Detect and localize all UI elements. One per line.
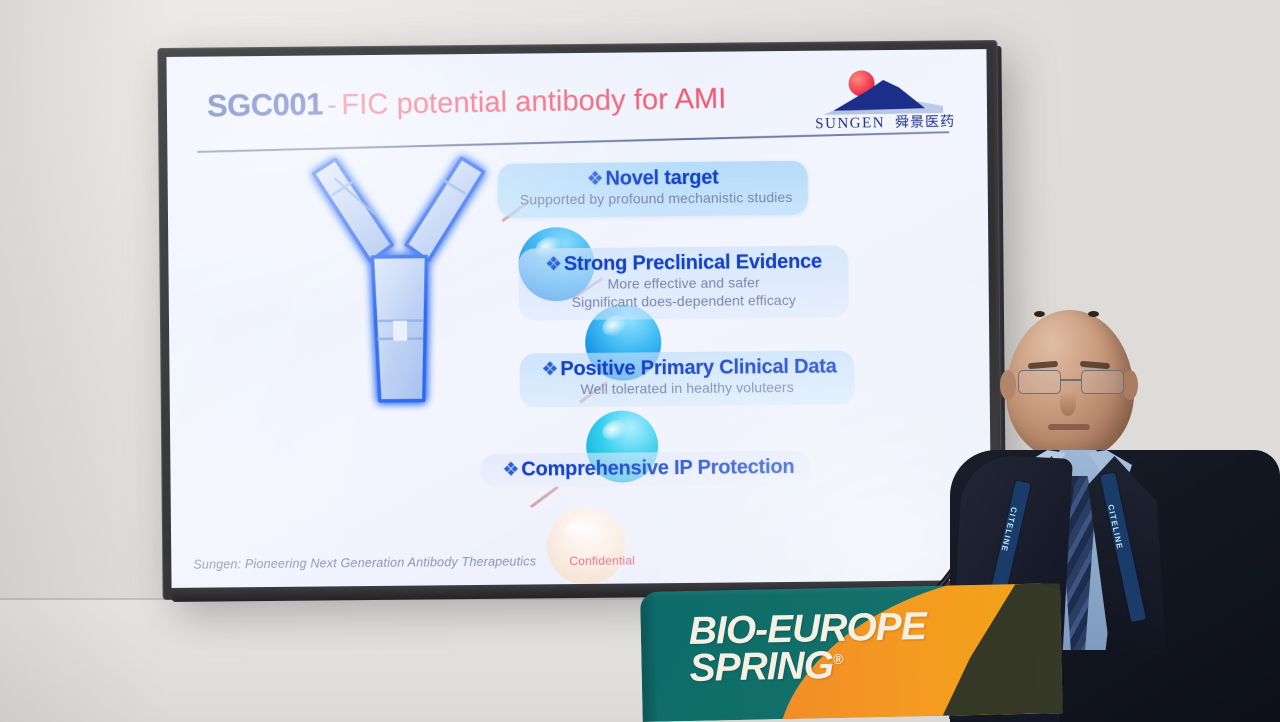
lens-right <box>1081 370 1124 394</box>
logo-name-en: SUNGEN <box>815 115 885 133</box>
bullet-heading: ❖Strong Preclinical Evidence <box>540 251 826 277</box>
registered-mark: ® <box>833 651 844 667</box>
slide-canvas: SGC001 - FIC potential antibody for AMI … <box>166 49 991 588</box>
ear-left <box>1000 370 1016 400</box>
slide-title-rest: FIC potential antibody for AMI <box>341 83 727 121</box>
eye-right <box>1088 311 1099 317</box>
slide-title: SGC001 - FIC potential antibody for AMI <box>207 80 727 125</box>
bullet-card-ip-protection: ❖Comprehensive IP Protection <box>480 451 810 488</box>
bullet-subline: Supported by profound mechanistic studie… <box>520 189 786 209</box>
bullet-subline: Significant does-dependent efficacy <box>541 292 827 313</box>
bullet-glyph-icon: ❖ <box>545 254 562 275</box>
eye-left <box>1034 311 1045 317</box>
podium-sign: BIO-EUROPE SPRING® <box>640 583 1063 722</box>
bullet-heading-text: Comprehensive IP Protection <box>521 456 794 481</box>
bullet-heading: ❖Positive Primary Clinical Data <box>541 356 832 382</box>
bullet-heading-text: Novel target <box>605 167 718 190</box>
sungen-logo: SUNGEN 舜景医药 <box>814 65 955 141</box>
blue-mountain-icon <box>833 77 926 111</box>
bullet-glyph-icon: ❖ <box>587 169 604 190</box>
antibody-svg <box>295 124 528 416</box>
footer-confidential-label: Confidential <box>569 553 635 568</box>
bullet-card-novel-target: ❖Novel target Supported by profound mech… <box>497 161 808 218</box>
lens-left <box>1018 370 1061 394</box>
mouth <box>1048 424 1090 430</box>
wall-shadow <box>0 0 170 722</box>
logo-wordmark: SUNGEN 舜景医药 <box>815 111 955 133</box>
presentation-display: SGC001 - FIC potential antibody for AMI … <box>157 40 1002 600</box>
podium-line-2: SPRING® <box>689 645 927 687</box>
podium-wordmark: BIO-EUROPE SPRING® <box>688 608 927 687</box>
podium-line-2-text: SPRING <box>689 644 833 690</box>
slide-title-code: SGC001 <box>207 86 323 123</box>
bullet-glyph-icon: ❖ <box>541 359 558 380</box>
slide-footer: Sungen: Pioneering Next Generation Antib… <box>171 548 991 582</box>
bullet-heading: ❖Novel target <box>520 166 786 192</box>
logo-name-cn: 舜景医药 <box>895 111 955 132</box>
sphere-link <box>530 486 559 509</box>
podium-left-edge <box>640 592 659 722</box>
slide-title-dash: - <box>327 89 337 121</box>
footer-tagline: Sungen: Pioneering Next Generation Antib… <box>193 554 536 571</box>
ear-right <box>1122 370 1138 400</box>
conference-room-scene: SGC001 - FIC potential antibody for AMI … <box>0 0 1280 722</box>
bullet-subline: Well tolerated in healthy voluteers <box>542 379 833 400</box>
bullet-heading: ❖Comprehensive IP Protection <box>502 456 788 482</box>
bullet-glyph-icon: ❖ <box>502 460 519 481</box>
antibody-y-diagram <box>295 124 528 416</box>
bullet-card-clinical-data: ❖Positive Primary Clinical Data Well tol… <box>519 350 855 407</box>
nose <box>1060 392 1076 416</box>
glasses-bridge <box>1061 379 1081 381</box>
bullet-heading-text: Strong Preclinical Evidence <box>564 251 822 275</box>
bullet-card-preclinical-evidence: ❖Strong Preclinical Evidence More effect… <box>518 245 849 320</box>
bullet-heading-text: Positive Primary Clinical Data <box>560 356 837 381</box>
